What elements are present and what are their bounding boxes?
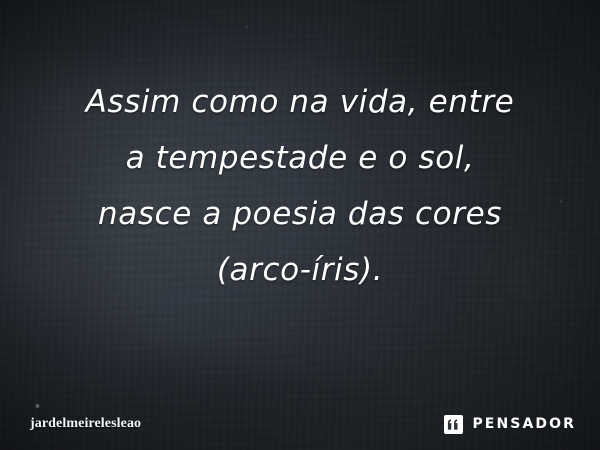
quote-text: Assim como na vida, entre a tempestade e…	[0, 74, 600, 298]
quote-line-4: (arco-íris).	[26, 242, 574, 298]
quote-line-1: Assim como na vida, entre	[26, 74, 574, 130]
pensador-wordmark: PENSADOR	[472, 416, 576, 432]
quote-mark-icon	[444, 415, 463, 434]
pensador-logo[interactable]: PENSADOR	[444, 415, 576, 434]
quote-line-2: a tempestade e o sol,	[26, 130, 574, 186]
quote-card: Assim como na vida, entre a tempestade e…	[0, 0, 600, 450]
quote-line-3: nasce a poesia das cores	[26, 186, 574, 242]
card-footer: jardelmeirelesleao PENSADOR	[0, 398, 600, 450]
quote-author[interactable]: jardelmeirelesleao	[30, 416, 141, 432]
chalk-dust-speck	[246, 26, 248, 28]
